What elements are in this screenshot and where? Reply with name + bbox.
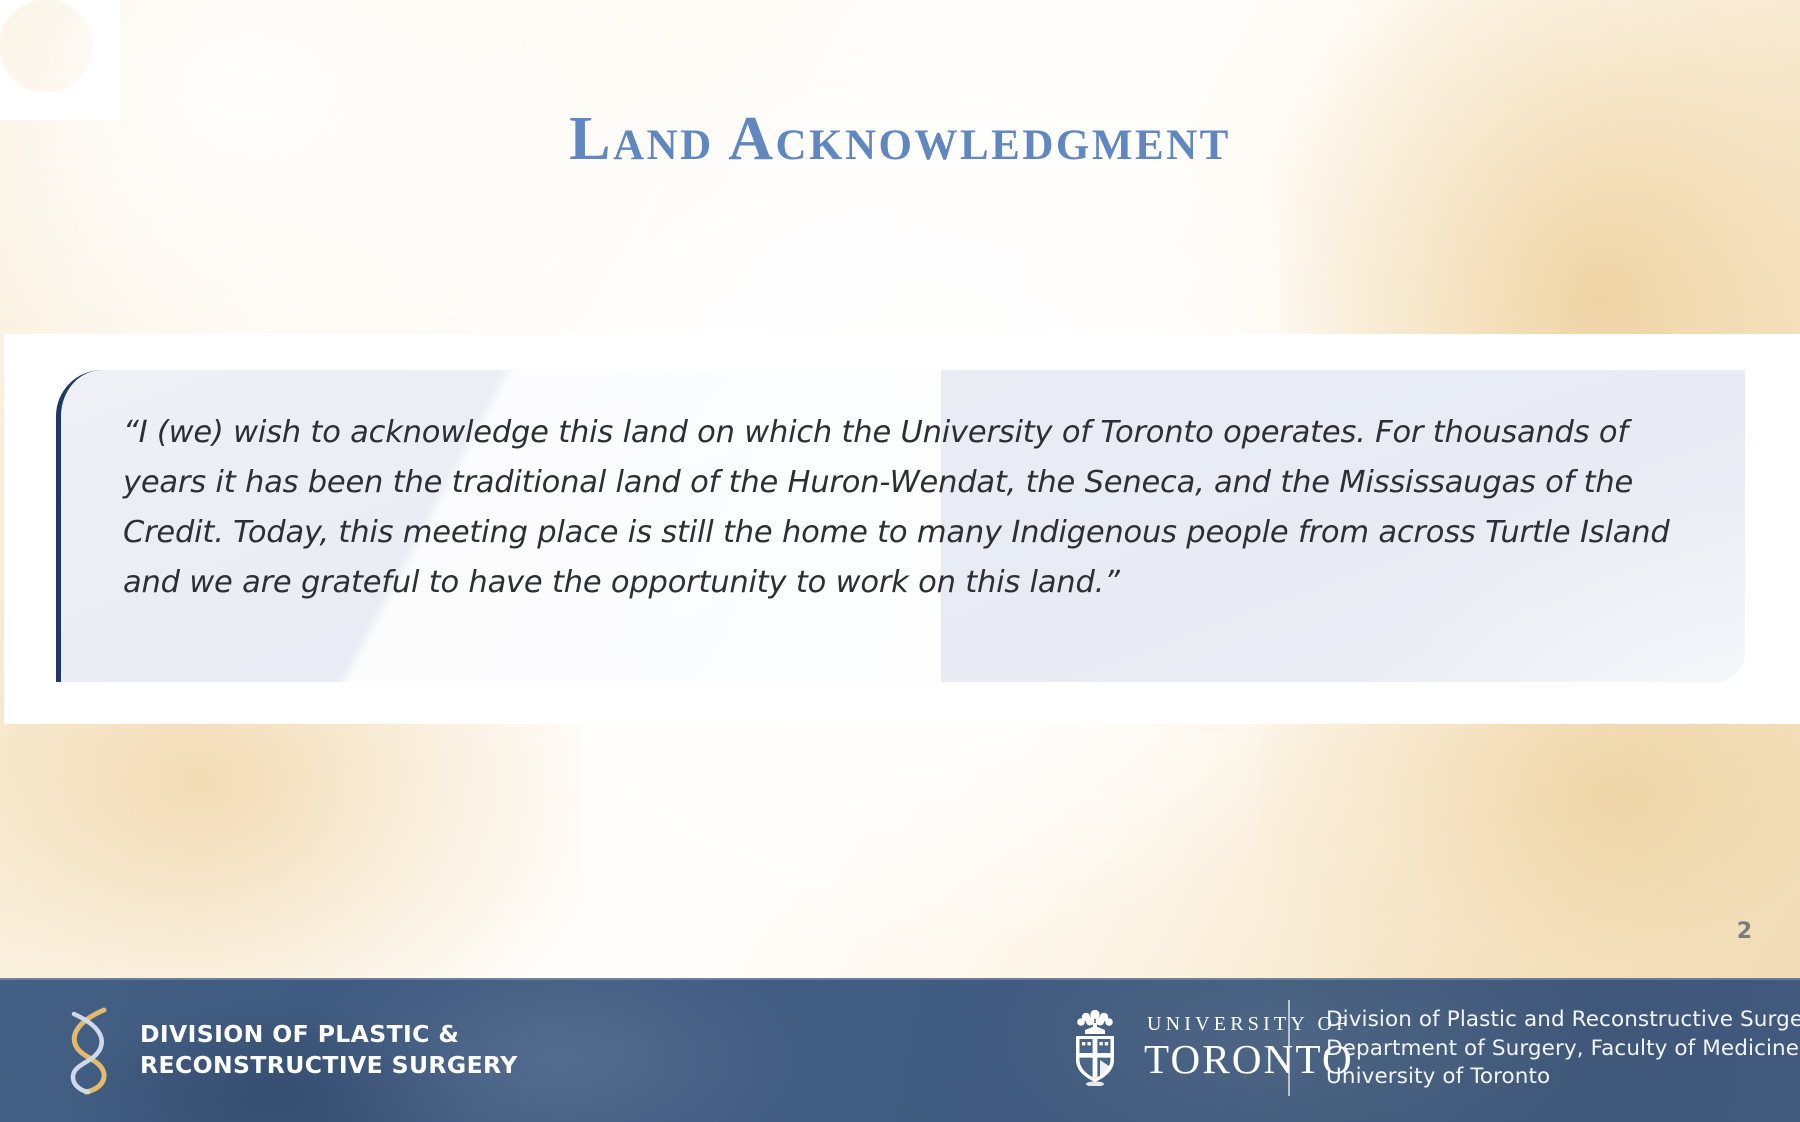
footer-vertical-divider bbox=[1288, 1000, 1290, 1096]
uoft-wordmark-line2: TORONTO bbox=[1144, 1039, 1354, 1080]
division-title-line2: RECONSTRUCTIVE SURGERY bbox=[140, 1050, 518, 1081]
division-title-line1: DIVISION OF PLASTIC & bbox=[140, 1019, 518, 1050]
affiliation-line1: Division of Plastic and Reconstructive S… bbox=[1326, 1006, 1800, 1035]
uoft-wordmark-line1: UNIVERSITY OF bbox=[1144, 1014, 1354, 1034]
plastic-surgery-ribbon-logo-icon bbox=[60, 1004, 118, 1096]
affiliation-block: Division of Plastic and Reconstructive S… bbox=[1326, 1006, 1800, 1092]
university-of-toronto-crest-icon bbox=[1064, 1008, 1126, 1086]
affiliation-line2: Department of Surgery, Faculty of Medici… bbox=[1326, 1035, 1800, 1064]
uoft-wordmark: UNIVERSITY OF TORONTO bbox=[1144, 1014, 1354, 1080]
division-brand: DIVISION OF PLASTIC & RECONSTRUCTIVE SUR… bbox=[60, 1004, 518, 1096]
land-acknowledgment-text: “I (we) wish to acknowledge this land on… bbox=[61, 370, 1745, 608]
uoft-brand: UNIVERSITY OF TORONTO bbox=[1064, 1008, 1354, 1086]
division-title: DIVISION OF PLASTIC & RECONSTRUCTIVE SUR… bbox=[140, 1019, 518, 1081]
slide-footer: DIVISION OF PLASTIC & RECONSTRUCTIVE SUR… bbox=[0, 978, 1800, 1122]
slide: Land Acknowledgment “I (we) wish to ackn… bbox=[0, 0, 1800, 1122]
page-number: 2 bbox=[1737, 919, 1752, 944]
page-title: Land Acknowledgment bbox=[0, 104, 1800, 175]
affiliation-line3: University of Toronto bbox=[1326, 1063, 1800, 1092]
land-acknowledgment-card: “I (we) wish to acknowledge this land on… bbox=[56, 370, 1745, 682]
